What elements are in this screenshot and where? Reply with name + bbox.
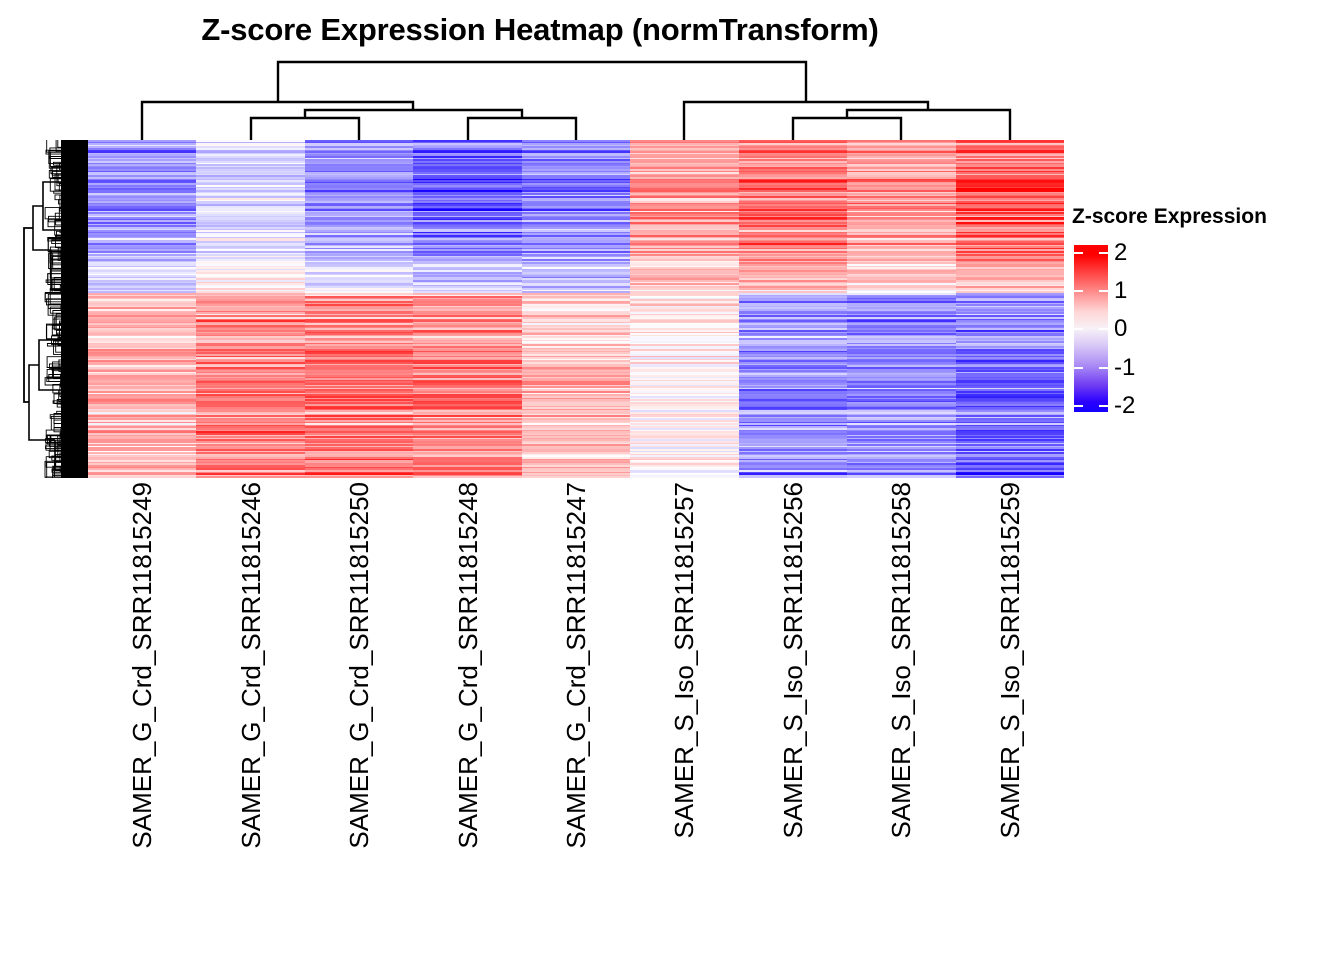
column-label: SAMER_G_Crd_SRR11815250 bbox=[346, 482, 372, 849]
legend-tick-mark bbox=[1074, 405, 1083, 407]
row-dendrogram bbox=[21, 140, 88, 478]
page-title: Z-score Expression Heatmap (normTransfor… bbox=[0, 12, 1080, 48]
legend-tick-label: -1 bbox=[1114, 354, 1135, 382]
heatmap-cell bbox=[413, 476, 521, 478]
column-label: SAMER_S_Iso_SRR11815259 bbox=[997, 482, 1023, 839]
column-label-slot: SAMER_G_Crd_SRR11815246 bbox=[196, 482, 304, 942]
heatmap-figure: Z-score Expression Heatmap (normTransfor… bbox=[0, 0, 1344, 960]
column-label: SAMER_S_Iso_SRR11815257 bbox=[671, 482, 697, 839]
heatmap-cell bbox=[956, 476, 1064, 478]
column-label-slot: SAMER_G_Crd_SRR11815248 bbox=[413, 482, 521, 942]
heatmap-cell bbox=[305, 476, 413, 478]
column-label-slot: SAMER_G_Crd_SRR11815247 bbox=[522, 482, 630, 942]
column-label-slot: SAMER_G_Crd_SRR11815250 bbox=[305, 482, 413, 942]
legend-tick-mark bbox=[1099, 328, 1108, 330]
column-label: SAMER_S_Iso_SRR11815258 bbox=[888, 482, 914, 839]
legend-tick-mark bbox=[1074, 290, 1083, 292]
column-label-slot: SAMER_S_Iso_SRR11815256 bbox=[739, 482, 847, 942]
legend-tick-mark bbox=[1099, 290, 1108, 292]
column-label-slot: SAMER_S_Iso_SRR11815259 bbox=[956, 482, 1064, 942]
legend-tick-mark bbox=[1099, 252, 1108, 254]
column-label-slot: SAMER_S_Iso_SRR11815257 bbox=[630, 482, 738, 942]
heatmap-cell bbox=[196, 476, 304, 478]
legend-tick-mark bbox=[1099, 405, 1108, 407]
legend-tick-mark bbox=[1074, 252, 1083, 254]
legend-tick-label: 2 bbox=[1114, 239, 1127, 267]
legend-tick-mark bbox=[1099, 367, 1108, 369]
legend-colorbar-wrap: 210-1-2 bbox=[1074, 245, 1108, 412]
column-label-slot: SAMER_S_Iso_SRR11815258 bbox=[847, 482, 955, 942]
legend-tick-label: 1 bbox=[1114, 277, 1127, 305]
column-label: SAMER_G_Crd_SRR11815246 bbox=[238, 482, 264, 849]
column-labels: SAMER_G_Crd_SRR11815249 SAMER_G_Crd_SRR1… bbox=[88, 482, 1064, 942]
heatmap-row bbox=[88, 476, 1064, 478]
column-label-slot: SAMER_G_Crd_SRR11815249 bbox=[88, 482, 196, 942]
legend-title: Z-score Expression bbox=[1072, 205, 1267, 229]
heatmap-cell bbox=[739, 476, 847, 478]
heatmap-cell bbox=[88, 476, 196, 478]
heatmap-cell bbox=[522, 476, 630, 478]
heatmap-grid bbox=[88, 140, 1064, 478]
legend-tick-label: -2 bbox=[1114, 392, 1135, 420]
heatmap-cell bbox=[847, 476, 955, 478]
column-dendrogram bbox=[88, 56, 1064, 140]
column-label: SAMER_G_Crd_SRR11815247 bbox=[563, 482, 589, 849]
legend-tick-label: 0 bbox=[1114, 315, 1127, 343]
legend-tick-mark bbox=[1074, 367, 1083, 369]
column-label: SAMER_G_Crd_SRR11815248 bbox=[455, 482, 481, 849]
column-label: SAMER_G_Crd_SRR11815249 bbox=[129, 482, 155, 849]
legend-tick-mark bbox=[1074, 328, 1083, 330]
heatmap-cell bbox=[630, 476, 738, 478]
column-label: SAMER_S_Iso_SRR11815256 bbox=[780, 482, 806, 839]
